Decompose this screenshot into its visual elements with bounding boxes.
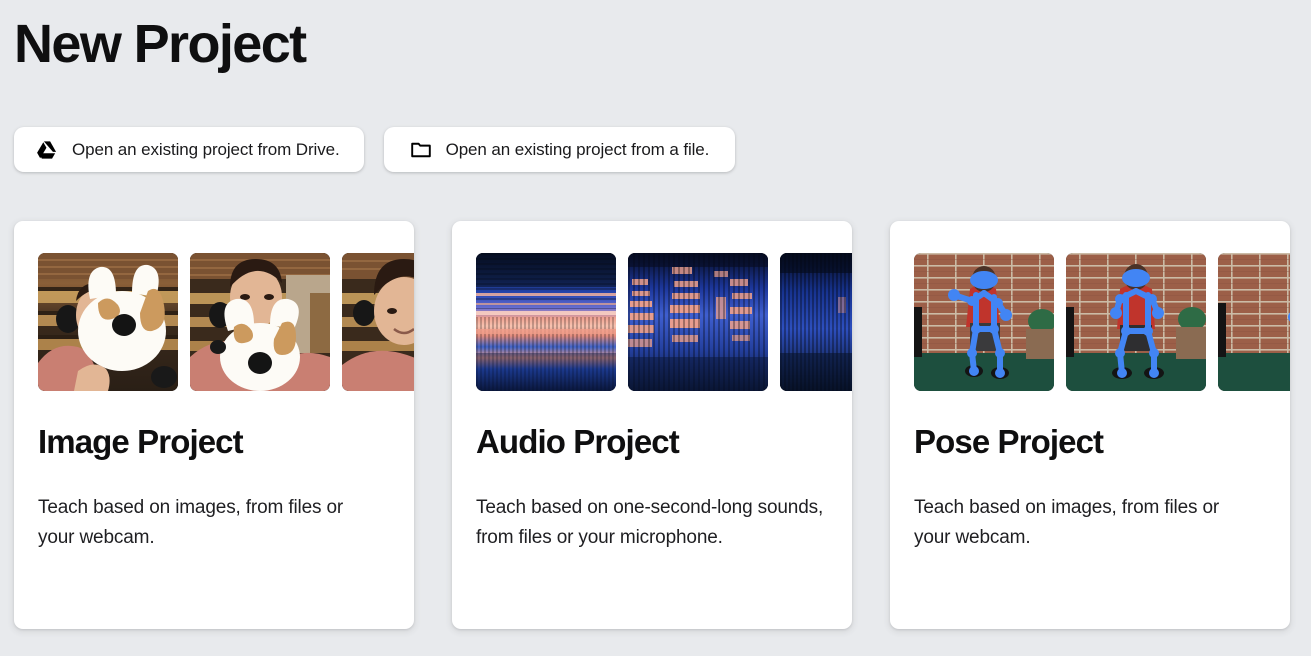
image-thumbnail-strip [38,253,414,391]
card-title-image: Image Project [38,422,243,462]
image-thumbnail [190,253,330,391]
project-type-card-list: Image Project Teach based on images, fro… [14,221,1290,629]
image-thumbnail [38,253,178,391]
page-title: New Project [14,8,306,80]
spectrogram-thumbnail [628,253,768,391]
new-project-page: New Project Open an existing project fro… [0,0,1311,656]
spectrogram-thumbnail [476,253,616,391]
google-drive-icon [36,139,58,161]
card-description-pose: Teach based on images, from files or you… [914,493,1232,553]
open-from-drive-label: Open an existing project from Drive. [72,140,340,160]
open-from-drive-button[interactable]: Open an existing project from Drive. [14,127,364,172]
spectrogram-thumbnail [780,253,852,391]
open-from-file-label: Open an existing project from a file. [446,140,710,160]
folder-icon [410,139,432,161]
card-description-image: Teach based on images, from files or you… [38,493,368,553]
project-card-pose[interactable]: Pose Project Teach based on images, from… [890,221,1290,629]
pose-thumbnail-strip [914,253,1290,391]
image-thumbnail [342,253,414,391]
pose-thumbnail [1218,253,1290,391]
pose-thumbnail [1066,253,1206,391]
card-title-pose: Pose Project [914,422,1103,462]
audio-thumbnail-strip [476,253,852,391]
pose-thumbnail [914,253,1054,391]
project-card-image[interactable]: Image Project Teach based on images, fro… [14,221,414,629]
card-description-audio: Teach based on one-second-long sounds, f… [476,493,832,553]
open-project-actions: Open an existing project from Drive. Ope… [14,127,735,172]
project-card-audio[interactable]: Audio Project Teach based on one-second-… [452,221,852,629]
card-title-audio: Audio Project [476,422,679,462]
open-from-file-button[interactable]: Open an existing project from a file. [384,127,736,172]
